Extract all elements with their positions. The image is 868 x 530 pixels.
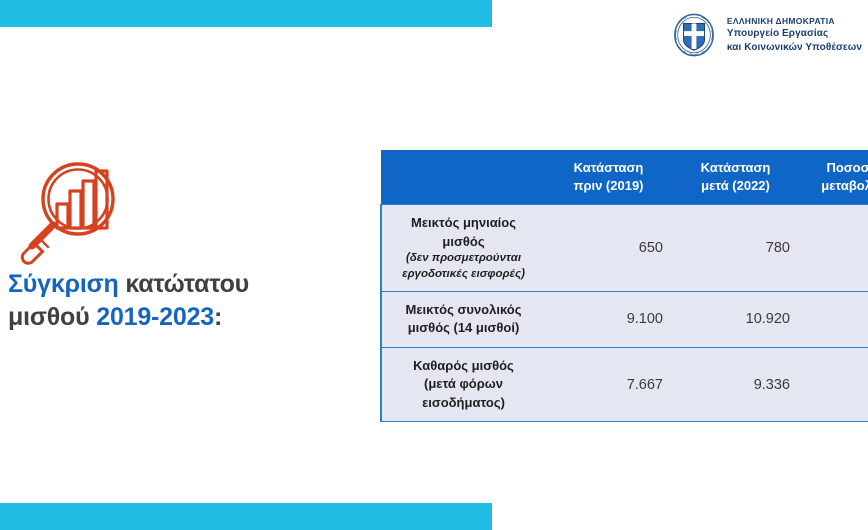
row-label-gross-total: Μεικτός συνολικός μισθός (14 μισθοί) — [381, 292, 545, 348]
header-before-line1: Κατάσταση — [574, 160, 644, 175]
page-title: Σύγκριση κατώτατου μισθού 2019-2023: — [8, 268, 348, 335]
title-part-plain-1: κατώτατου — [119, 270, 249, 298]
row2-label-line2: μισθός (14 μισθοί) — [408, 320, 520, 335]
header-after-line2: μετά (2022) — [701, 178, 770, 193]
row3-value-change: 21,77% — [799, 347, 868, 421]
top-accent-bar — [0, 0, 492, 27]
title-part-plain-2: μισθού — [8, 303, 96, 331]
row1-value-before: 650 — [545, 205, 672, 292]
title-part-highlight-1: Σύγκριση — [8, 270, 119, 298]
ministry-logo: ΕΛΛΗΝΙΚΗ ΔΗΜΟΚΡΑΤΙΑ Υπουργείο Εργασίας κ… — [670, 11, 862, 59]
table-row: Μεικτός μηνιαίος μισθός (δεν προσμετρούν… — [381, 205, 868, 292]
header-cell-change: Ποσοστιαία μεταβολή (%) — [799, 150, 868, 205]
table-body: Μεικτός μηνιαίος μισθός (δεν προσμετρούν… — [381, 205, 868, 422]
row-label-gross-monthly: Μεικτός μηνιαίος μισθός (δεν προσμετρούν… — [381, 205, 545, 292]
logo-line-ministry-cont: και Κοινωνικών Υποθέσεων — [727, 41, 862, 55]
greek-coat-of-arms-icon — [670, 11, 718, 59]
logo-line-republic: ΕΛΛΗΝΙΚΗ ΔΗΜΟΚΡΑΤΙΑ — [727, 16, 862, 27]
title-part-highlight-2: 2019-2023 — [96, 303, 214, 331]
header-before-line2: πριν (2019) — [573, 178, 643, 193]
header-change-line1: Ποσοστιαία — [826, 160, 868, 175]
row2-value-change: 20,00% — [799, 292, 868, 348]
magnifier-bar-chart-icon — [12, 157, 124, 269]
bottom-accent-bar — [0, 503, 492, 530]
row1-label-line2: μισθός — [442, 234, 484, 249]
row3-value-before: 7.667 — [545, 347, 672, 421]
header-after-line1: Κατάσταση — [701, 160, 771, 175]
row2-label-line1: Μεικτός συνολικός — [406, 302, 522, 317]
row1-value-change: 20,00% — [799, 205, 868, 292]
table-header-row: Κατάσταση πριν (2019) Κατάσταση μετά (20… — [381, 150, 868, 205]
comparison-table-container: Κατάσταση πριν (2019) Κατάσταση μετά (20… — [380, 150, 861, 422]
header-cell-after: Κατάσταση μετά (2022) — [672, 150, 799, 205]
row-label-net-salary: Καθαρός μισθός (μετά φόρων εισοδήματος) — [381, 347, 545, 421]
comparison-table: Κατάσταση πριν (2019) Κατάσταση μετά (20… — [380, 150, 868, 422]
header-cell-label — [381, 150, 545, 205]
row2-value-before: 9.100 — [545, 292, 672, 348]
row3-value-after: 9.336 — [672, 347, 799, 421]
table-row: Μεικτός συνολικός μισθός (14 μισθοί) 9.1… — [381, 292, 868, 348]
table-header: Κατάσταση πριν (2019) Κατάσταση μετά (20… — [381, 150, 868, 205]
row3-label-line3: εισοδήματος) — [422, 395, 505, 410]
row2-value-after: 10.920 — [672, 292, 799, 348]
row1-label-note: (δεν προσμετρούνται εργοδοτικές εισφορές… — [392, 251, 535, 282]
header-cell-before: Κατάσταση πριν (2019) — [545, 150, 672, 205]
row3-label-line1: Καθαρός μισθός — [413, 358, 514, 373]
title-part-colon: : — [214, 303, 222, 331]
row3-label-line2: (μετά φόρων — [424, 376, 503, 391]
header-change-line2: μεταβολή (%) — [821, 178, 868, 193]
row1-label-line1: Μεικτός μηνιαίος — [411, 215, 516, 230]
row1-value-after: 780 — [672, 205, 799, 292]
logo-line-ministry: Υπουργείο Εργασίας — [727, 27, 862, 41]
table-row: Καθαρός μισθός (μετά φόρων εισοδήματος) … — [381, 347, 868, 421]
